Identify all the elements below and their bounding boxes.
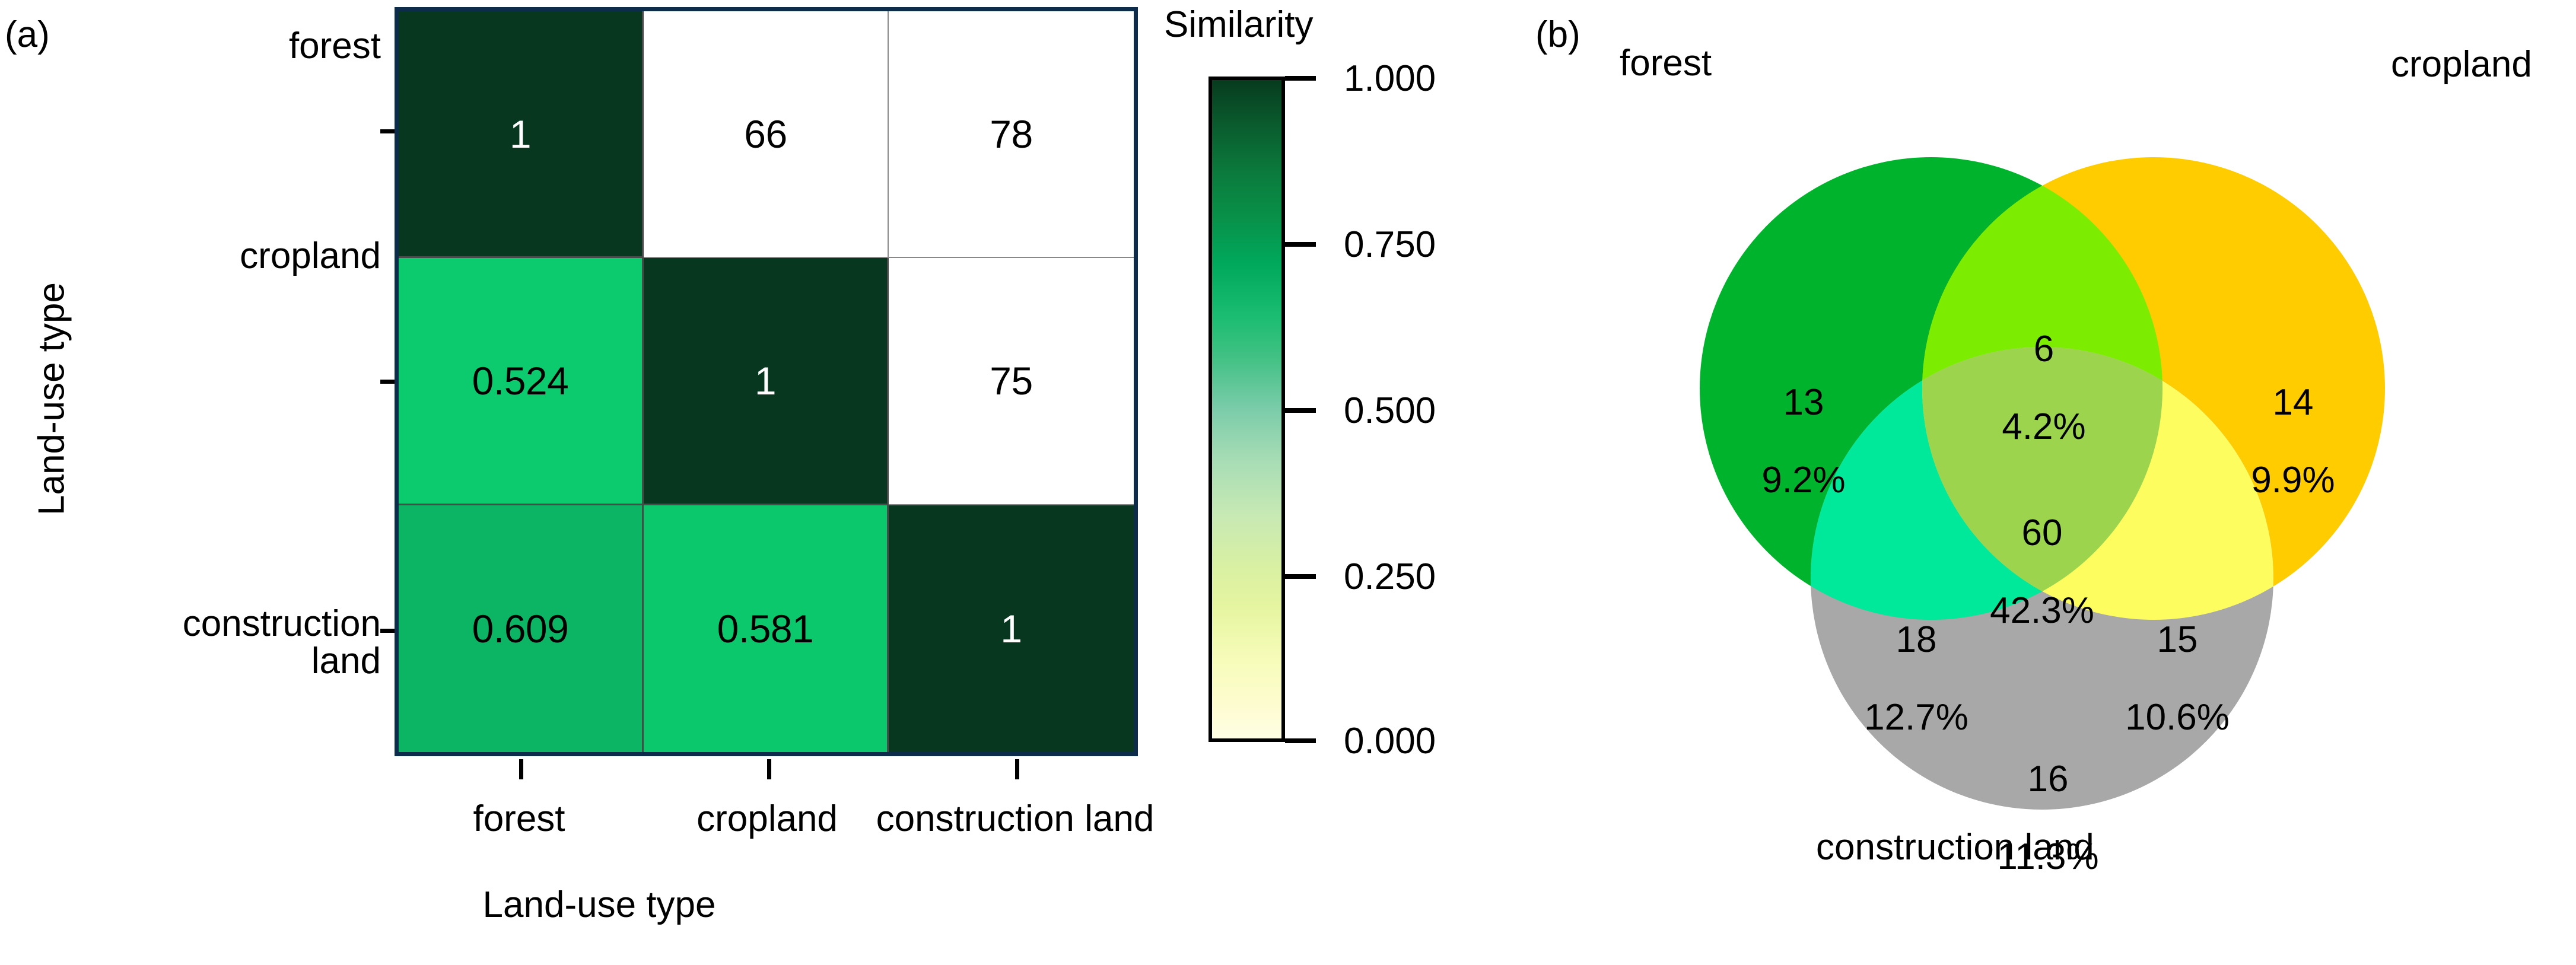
venn-region-percent: 4.2% (2002, 406, 2085, 447)
venn-region-percent: 42.3% (1990, 590, 2094, 631)
venn-region-percent: 10.6% (2125, 697, 2230, 738)
heatmap-cell-cropland-forest[interactable]: 0.524 (399, 258, 644, 505)
colorbar-label-0750: 0.750 (1344, 224, 1436, 266)
heatmap-cell-forest-cropland[interactable]: 66 (644, 11, 889, 258)
y-tick-label-cropland: cropland (0, 237, 381, 275)
heatmap-cell-cropland-cropland[interactable]: 1 (644, 258, 889, 505)
colorbar-tick-0750 (1285, 242, 1316, 247)
venn-region-count: 16 (2028, 759, 2069, 800)
venn-region-count: 15 (2157, 619, 2198, 660)
x-tick-mark-construction-land (1015, 759, 1019, 779)
colorbar-tick-1000 (1285, 76, 1316, 81)
venn-region-count: 60 (2022, 512, 2063, 553)
venn-region-count: 18 (1896, 619, 1937, 660)
y-axis-title: Land-use type (31, 132, 73, 666)
heatmap-cell-value: 78 (990, 114, 1032, 154)
venn-label-cropland: cropland (2391, 46, 2532, 83)
venn-region-count: 13 (1783, 382, 1824, 423)
heatmap-cell-value: 1 (755, 361, 776, 400)
colorbar-label-0500: 0.500 (1344, 390, 1436, 432)
y-tick-mark-forest (380, 129, 395, 133)
venn-region-percent: 12.7% (1864, 697, 1968, 738)
y-tick-label-forest: forest (0, 27, 381, 65)
y-tick-label-construction-land: construction land (0, 605, 381, 680)
heatmap-cell-value: 66 (744, 114, 787, 154)
heatmap-cell-value: 1 (1000, 609, 1022, 648)
colorbar-label-0000: 0.000 (1344, 720, 1436, 762)
colorbar-tick-0250 (1285, 574, 1316, 579)
heatmap-cell-value: 0.581 (717, 609, 814, 648)
heatmap-grid: 1 66 78 0.524 1 75 0.609 0.581 (399, 11, 1134, 752)
heatmap-cell-value: 0.524 (472, 361, 569, 400)
venn-label-forest: forest (1620, 45, 1712, 82)
venn-region-percent: 9.2% (1761, 460, 1845, 501)
venn-region-cropland-only[interactable]: 14 9.9% (2216, 344, 2370, 500)
colorbar-label-0250: 0.250 (1344, 556, 1436, 598)
y-tick-mark-cropland (380, 380, 395, 384)
y-tick-mark-construction-land (380, 629, 395, 633)
venn-region-percent: 9.9% (2251, 460, 2335, 501)
legend-title: Similarity (1164, 4, 1313, 46)
similarity-colorbar[interactable] (1209, 77, 1285, 742)
x-tick-label-construction-land: construction land (842, 801, 1188, 837)
venn-region-count: 14 (2273, 382, 2314, 423)
heatmap-cell-forest-construction[interactable]: 78 (889, 11, 1134, 258)
x-axis-title: Land-use type (0, 884, 1198, 926)
heatmap-cell-value: 1 (510, 114, 531, 154)
heatmap-cell-value: 75 (990, 361, 1032, 400)
venn-region-forest-cropland[interactable]: 6 4.2% (1967, 291, 2121, 447)
heatmap-cell-construction-cropland[interactable]: 0.581 (644, 505, 889, 752)
heatmap-cell-forest-forest[interactable]: 1 (399, 11, 644, 258)
panel-a-heatmap: (a) Land-use type forest cropland constr… (0, 0, 1507, 965)
venn-region-cropland-construction[interactable]: 15 10.6% (2091, 581, 2263, 737)
venn-region-forest-only[interactable]: 13 9.2% (1726, 344, 1881, 500)
colorbar-tick-0000 (1285, 738, 1316, 743)
x-tick-mark-cropland (767, 759, 771, 779)
heatmap-plot-area: 1 66 78 0.524 1 75 0.609 0.581 (395, 7, 1138, 756)
heatmap-cell-construction-construction[interactable]: 1 (889, 505, 1134, 752)
colorbar-tick-0500 (1285, 408, 1316, 413)
heatmap-cell-value: 0.609 (472, 609, 569, 648)
colorbar-label-1000: 1.000 (1344, 58, 1436, 100)
venn-region-count: 6 (2034, 329, 2054, 370)
heatmap-cell-cropland-construction[interactable]: 75 (889, 258, 1134, 505)
x-tick-label-forest: forest (389, 801, 650, 837)
x-tick-mark-forest (519, 759, 523, 779)
venn-region-construction-only[interactable]: 16 11.3% (1962, 721, 2134, 877)
venn-region-percent: 11.3% (1997, 836, 2098, 877)
heatmap-cell-construction-forest[interactable]: 0.609 (399, 505, 644, 752)
panel-b-venn: (b) forest cropland const (1507, 0, 2576, 965)
